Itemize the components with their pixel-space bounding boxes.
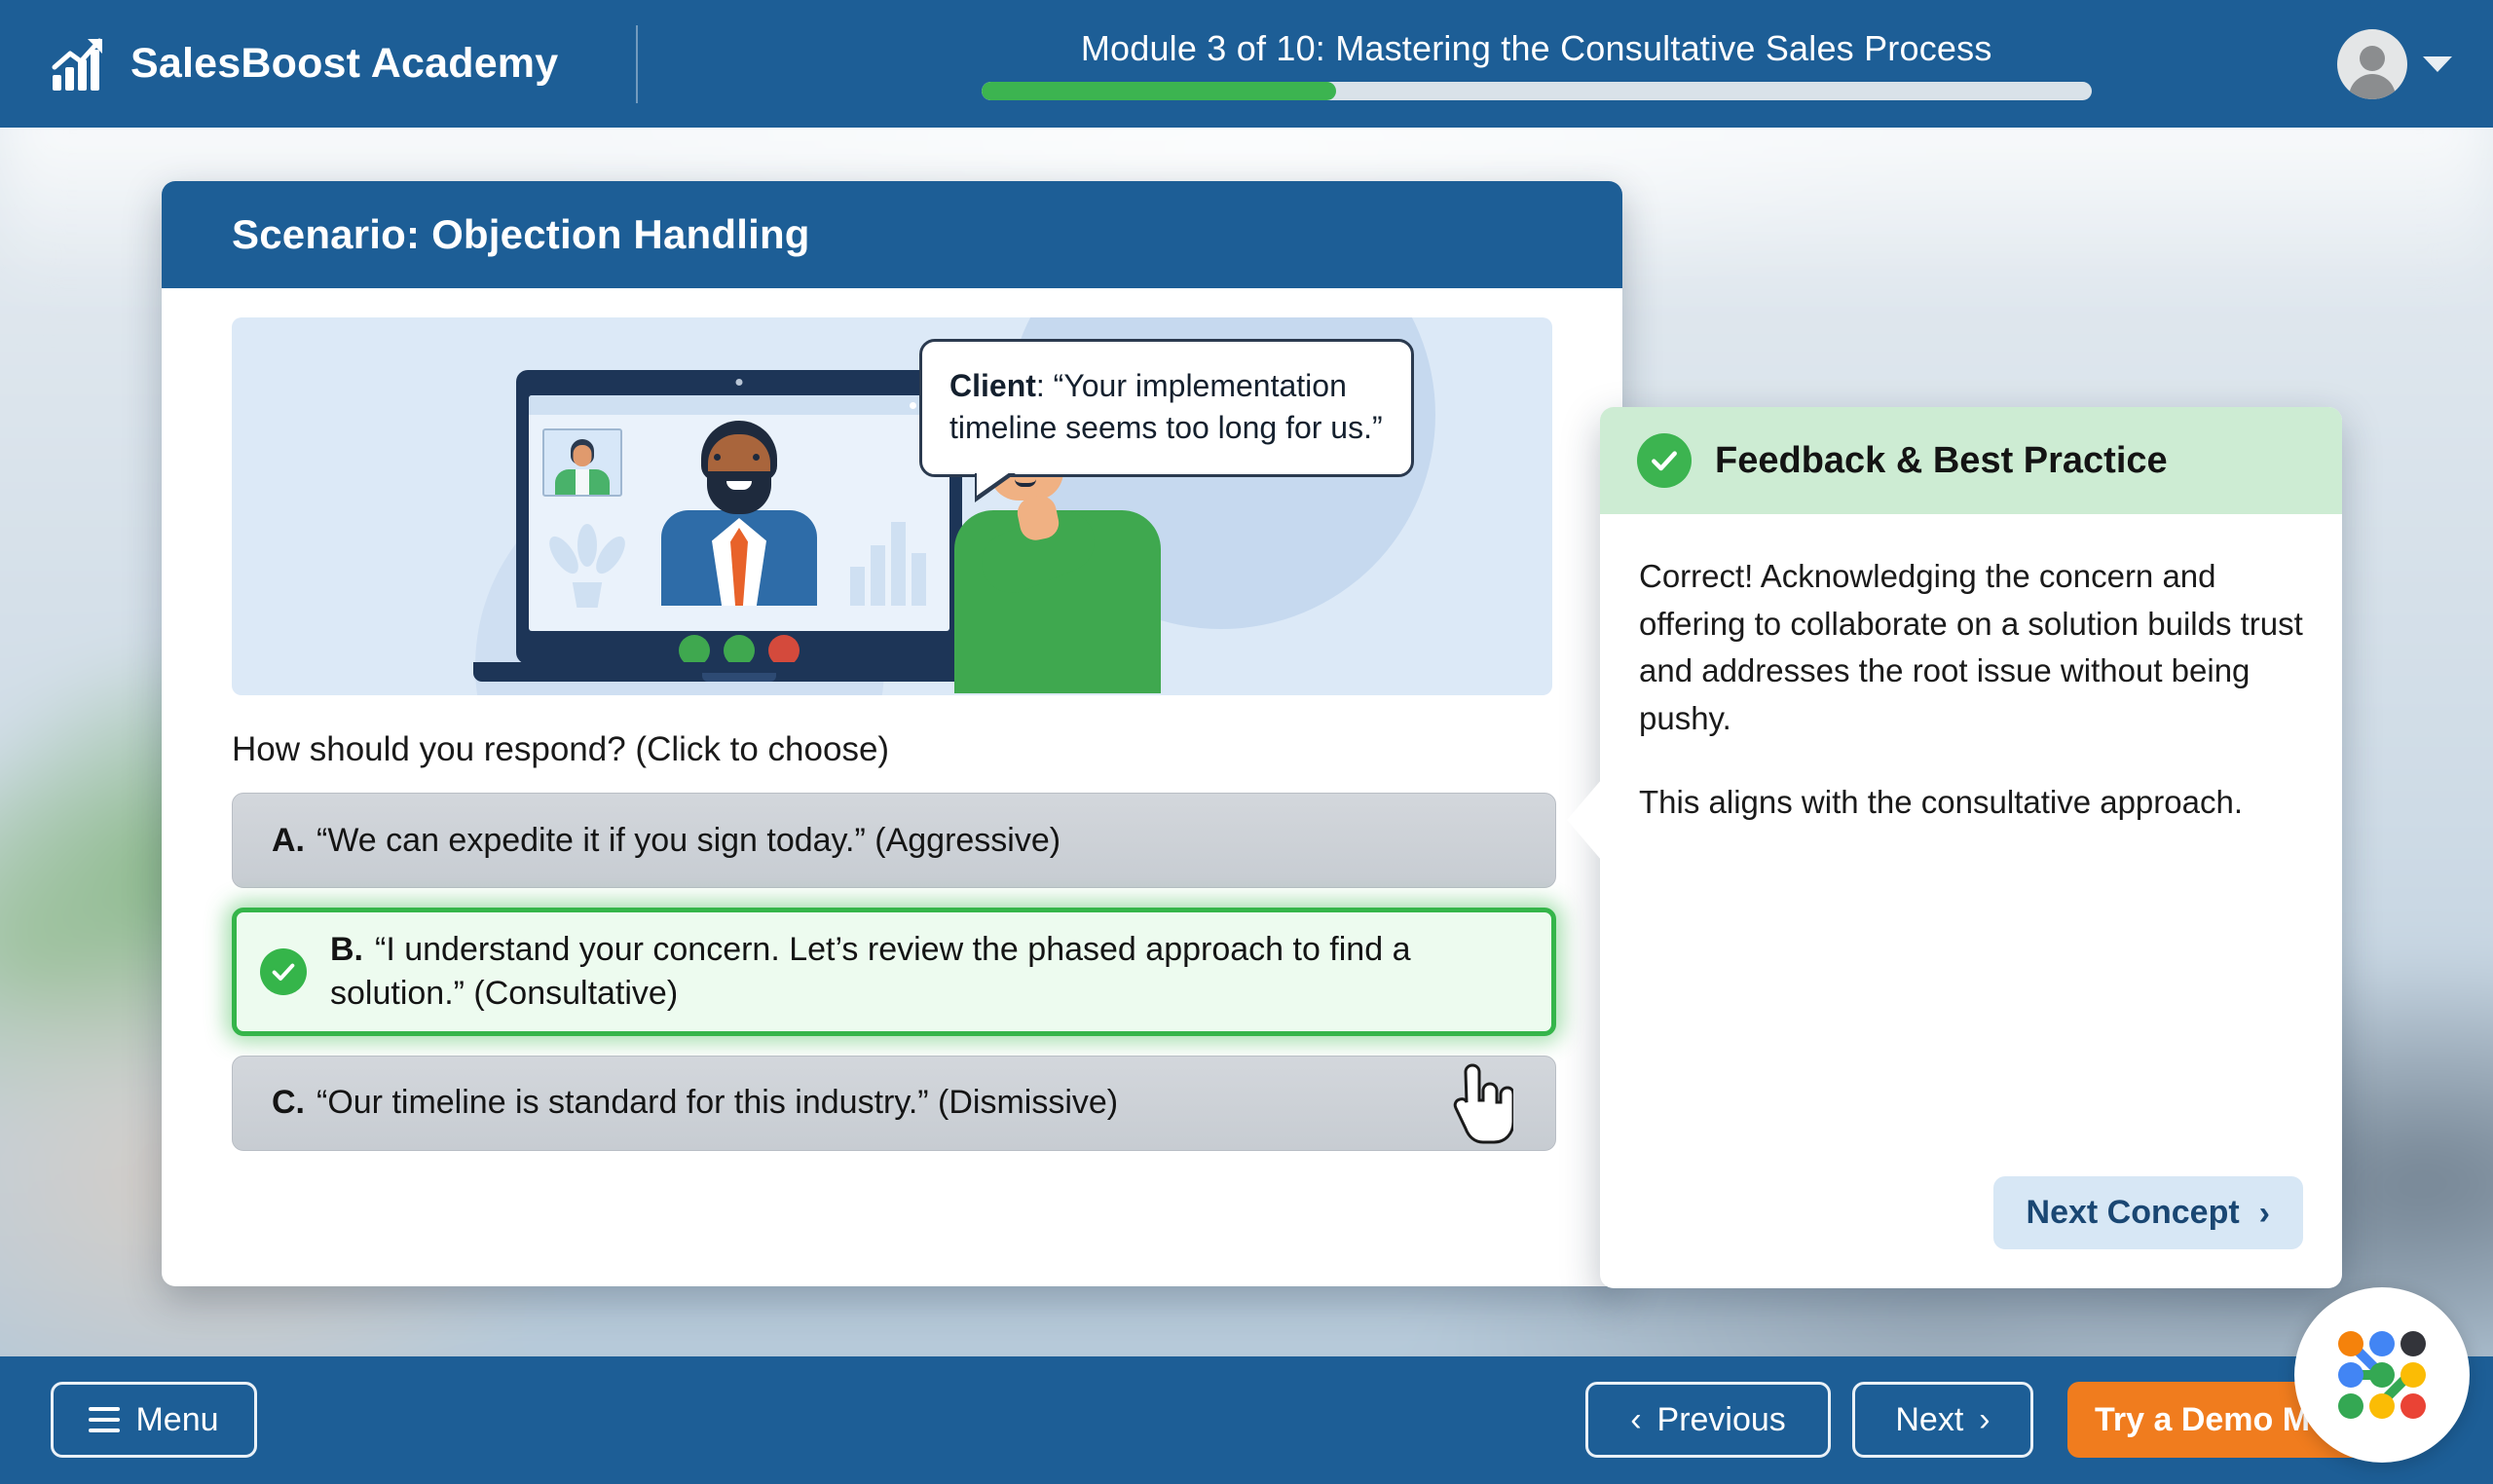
next-concept-button[interactable]: Next Concept ›: [1993, 1176, 2303, 1249]
next-concept-label: Next Concept: [2027, 1194, 2240, 1232]
plant-graphic: [550, 518, 624, 608]
video-call-illustration: Client: “Your implementation timeline se…: [232, 317, 1552, 695]
laptop-graphic: [516, 370, 962, 664]
floating-widget-button[interactable]: [2294, 1287, 2470, 1463]
module-progress-fill: [982, 82, 1337, 100]
top-header-bar: SalesBoost Academy Module 3 of 10: Maste…: [0, 0, 2493, 128]
option-a-letter: A.: [272, 819, 305, 863]
chevron-right-icon: ›: [1979, 1403, 1990, 1436]
account-menu[interactable]: [2337, 29, 2452, 99]
chart-graphic: [850, 499, 940, 606]
feedback-title: Feedback & Best Practice: [1715, 440, 2168, 482]
chevron-down-icon[interactable]: [2423, 56, 2452, 72]
dot-grid-logo-icon: [2335, 1328, 2429, 1422]
option-c-text: “Our timeline is standard for this indus…: [316, 1081, 1118, 1125]
answer-option-a[interactable]: A. “We can expedite it if you sign today…: [232, 793, 1556, 888]
option-b-letter: B.: [330, 931, 363, 968]
chart-growth-icon: [49, 34, 109, 94]
client-speech-bubble: Client: “Your implementation timeline se…: [919, 339, 1414, 477]
scenario-card-body: Client: “Your implementation timeline se…: [162, 288, 1622, 1151]
brand-block: SalesBoost Academy: [0, 25, 638, 103]
module-title: Module 3 of 10: Mastering the Consultati…: [1081, 28, 1992, 69]
bottom-navigation-bar: Menu ‹ Previous Next › Try a Demo M: [0, 1356, 2493, 1484]
module-progress-bar: [982, 82, 2092, 100]
check-circle-icon: [260, 948, 307, 995]
feedback-panel: Feedback & Best Practice Correct! Acknow…: [1600, 407, 2342, 1288]
answer-options-list: A. “We can expedite it if you sign today…: [232, 793, 1552, 1151]
previous-button-label: Previous: [1657, 1401, 1786, 1439]
option-a-text: “We can expedite it if you sign today.” …: [316, 819, 1060, 863]
webcam-dot-icon: [736, 379, 743, 386]
answer-prompt: How should you respond? (Click to choose…: [232, 730, 1552, 769]
scenario-card: Scenario: Objection Handling: [162, 181, 1622, 1286]
option-c-letter: C.: [272, 1081, 305, 1125]
participant-thumbnail: [542, 428, 622, 497]
course-player-app: SalesBoost Academy Module 3 of 10: Maste…: [0, 0, 2493, 1484]
user-avatar-icon[interactable]: [2337, 29, 2407, 99]
answer-option-b[interactable]: B.“I understand your concern. Let’s revi…: [232, 908, 1556, 1036]
feedback-paragraph-2: This aligns with the consultative approa…: [1639, 779, 2303, 827]
menu-button-label: Menu: [135, 1401, 218, 1439]
scenario-card-header: Scenario: Objection Handling: [162, 181, 1622, 288]
menu-button[interactable]: Menu: [51, 1382, 257, 1458]
option-b-text: “I understand your concern. Let’s review…: [330, 931, 1410, 1012]
hamburger-icon: [89, 1407, 120, 1432]
chevron-right-icon: ›: [2259, 1197, 2270, 1230]
check-circle-icon: [1637, 433, 1692, 488]
feedback-paragraph-1: Correct! Acknowledging the concern and o…: [1639, 553, 2303, 742]
scenario-title: Scenario: Objection Handling: [232, 211, 810, 258]
feedback-body: Correct! Acknowledging the concern and o…: [1600, 514, 2342, 1176]
client-speaker-label: Client: [949, 368, 1036, 403]
chevron-left-icon: ‹: [1630, 1403, 1641, 1436]
module-progress-block: Module 3 of 10: Mastering the Consultati…: [638, 28, 2493, 100]
next-button-label: Next: [1895, 1401, 1963, 1439]
try-demo-cta-label: Try a Demo M: [2095, 1401, 2310, 1439]
feedback-panel-header: Feedback & Best Practice: [1600, 407, 2342, 514]
next-button[interactable]: Next ›: [1852, 1382, 2033, 1458]
speech-colon: :: [1036, 368, 1054, 403]
presenter-avatar-graphic: [651, 421, 827, 606]
previous-button[interactable]: ‹ Previous: [1585, 1382, 1831, 1458]
brand-name: SalesBoost Academy: [130, 40, 558, 88]
answer-option-c[interactable]: C. “Our timeline is standard for this in…: [232, 1056, 1556, 1151]
feedback-footer: Next Concept ›: [1600, 1176, 2342, 1288]
